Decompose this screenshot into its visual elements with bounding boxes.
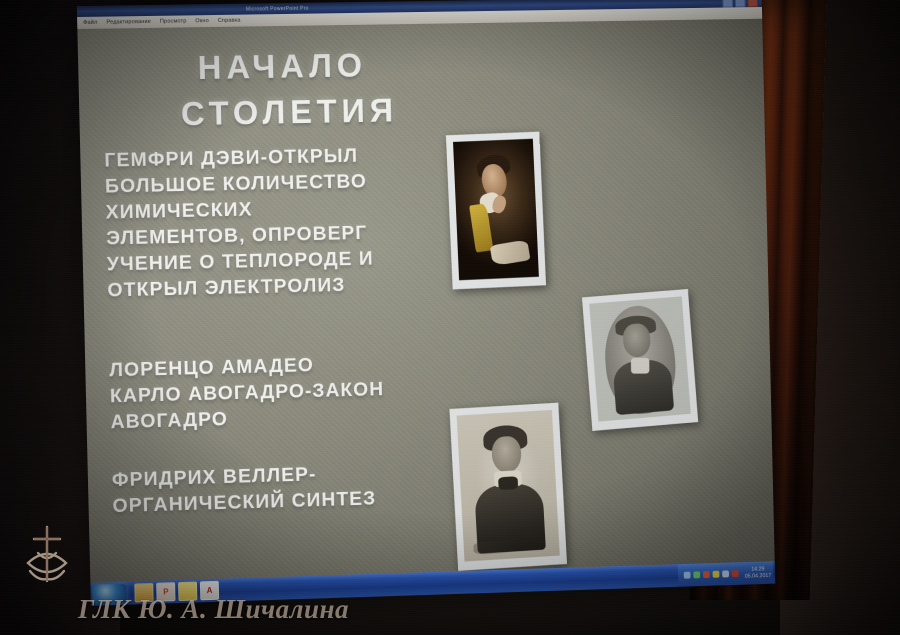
portrait-detail: [631, 358, 650, 374]
projected-screen: Microsoft PowerPoint Pro Файл Редактиров…: [77, 0, 775, 606]
portrait-davy-image: [453, 139, 539, 280]
taskbar-clock[interactable]: 14:29 05.04.2017: [745, 566, 772, 580]
watermark-text: ГЛК Ю. А. Шичалина: [78, 594, 349, 625]
menu-item-view[interactable]: Просмотр: [160, 18, 187, 24]
portrait-avogadro-image: [589, 296, 691, 421]
shield-icon[interactable]: [703, 571, 710, 578]
portrait-davy: [446, 132, 546, 290]
portrait-detail: [490, 239, 531, 266]
flag-icon[interactable]: [713, 571, 720, 578]
slide-title: НАЧАЛО СТОЛЕТИЯ: [197, 39, 610, 136]
slide-canvas: НАЧАЛО СТОЛЕТИЯ ГЕМФРИ ДЭВИ-ОТКРЫЛ БОЛЬШ…: [77, 19, 774, 583]
portrait-wohler-image: [457, 410, 560, 562]
slide-paragraph-avogadro: ЛОРЕНЦО АМАДЕО КАРЛО АВОГАДРО-ЗАКОН АВОГ…: [109, 350, 466, 437]
update-icon[interactable]: [732, 570, 739, 577]
clock-date: 05.04.2017: [745, 572, 772, 580]
portrait-wohler: [449, 403, 567, 571]
usb-icon[interactable]: [723, 570, 730, 577]
portrait-avogadro: [582, 289, 698, 431]
slide-paragraph-davy: ГЕМФРИ ДЭВИ-ОТКРЫЛ БОЛЬШОЕ КОЛИЧЕСТВО ХИ…: [104, 142, 463, 304]
menu-item-help[interactable]: Справка: [218, 18, 241, 24]
system-tray[interactable]: 14:29 05.04.2017: [678, 561, 773, 587]
volume-icon[interactable]: [694, 571, 701, 578]
slide-title-line-1: НАЧАЛО: [197, 46, 367, 86]
photograph-of-projected-presentation: Microsoft PowerPoint Pro Файл Редактиров…: [0, 0, 900, 635]
menu-item-edit[interactable]: Редактирование: [106, 19, 151, 26]
network-icon[interactable]: [684, 572, 691, 579]
menu-item-file[interactable]: Файл: [83, 20, 97, 26]
window-title: Microsoft PowerPoint Pro: [246, 5, 309, 12]
cross-anchor-monogram-icon: [14, 519, 80, 597]
menu-item-window[interactable]: Окно: [195, 18, 209, 24]
slide-title-line-2: СТОЛЕТИЯ: [180, 84, 610, 137]
slide-paragraph-wohler: ФРИДРИХ ВЕЛЛЕР- ОРГАНИЧЕСКИЙ СИНТЕЗ: [112, 458, 468, 520]
portrait-detail: [498, 476, 518, 490]
projection-screen-area: Microsoft PowerPoint Pro Файл Редактиров…: [77, 0, 776, 618]
